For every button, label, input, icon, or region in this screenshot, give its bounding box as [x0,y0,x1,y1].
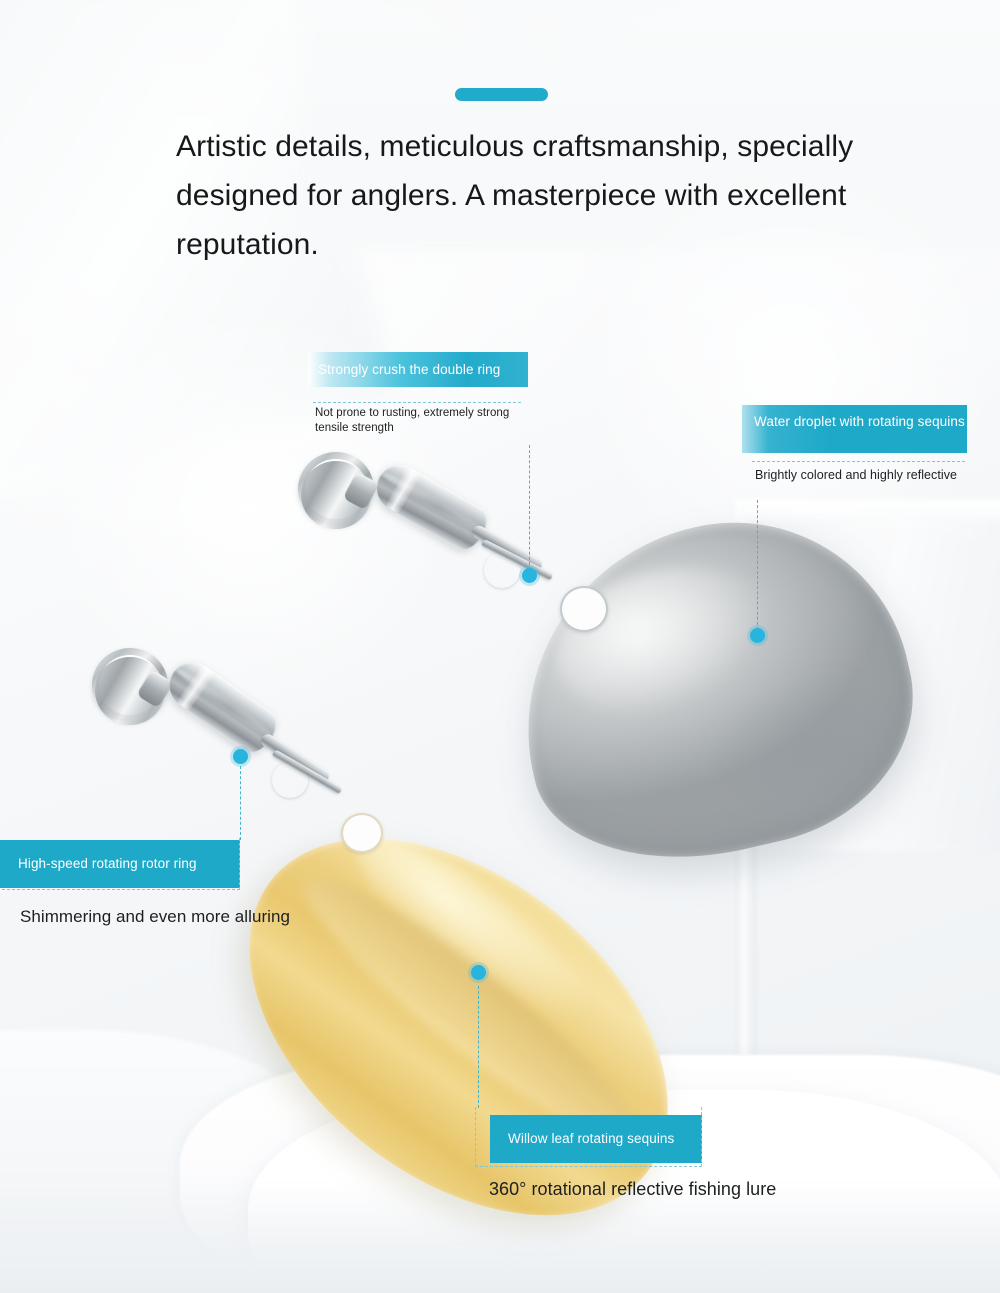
callout-leader-water-droplet [757,500,758,635]
background-riser-post [735,845,757,1055]
water-droplet-blade-hole [560,586,608,632]
callout-badge-double-ring[interactable]: Strongly crush the double ring [308,352,528,387]
callout-caption-double-ring: Not prone to rusting, extremely strong t… [315,406,530,436]
callout-leader-rotor-ring [240,766,241,840]
callout-leader-double-ring [529,445,530,575]
snap-eye-lower [272,762,308,798]
callout-dashbox-rotor-ring [0,838,240,890]
callout-badge-water-droplet[interactable]: Water droplet with rotating sequins [742,405,967,453]
callout-caption-rotor-ring: Shimmering and even more alluring [20,905,380,928]
callout-marker-water-droplet [750,628,765,643]
page-title: Artistic details, meticulous craftsmansh… [176,122,856,269]
callout-marker-rotor-ring [233,749,248,764]
callout-caption-water-droplet: Brightly colored and highly reflective [755,467,985,483]
accent-bar [455,88,548,101]
callout-divider-water-droplet [752,461,965,462]
callout-divider-double-ring [313,402,521,403]
callout-caption-willow-leaf: 360° rotational reflective fishing lure [489,1177,919,1201]
callout-marker-willow-leaf [471,965,486,980]
callout-leader-willow-leaf [478,986,479,1108]
callout-dashbox-willow-leaf [475,1107,702,1167]
willow-leaf-blade-hole [341,813,383,853]
snap-eye-upper [484,552,520,588]
product-infographic: Artistic details, meticulous craftsmansh… [0,0,1000,1293]
callout-marker-double-ring [522,568,537,583]
